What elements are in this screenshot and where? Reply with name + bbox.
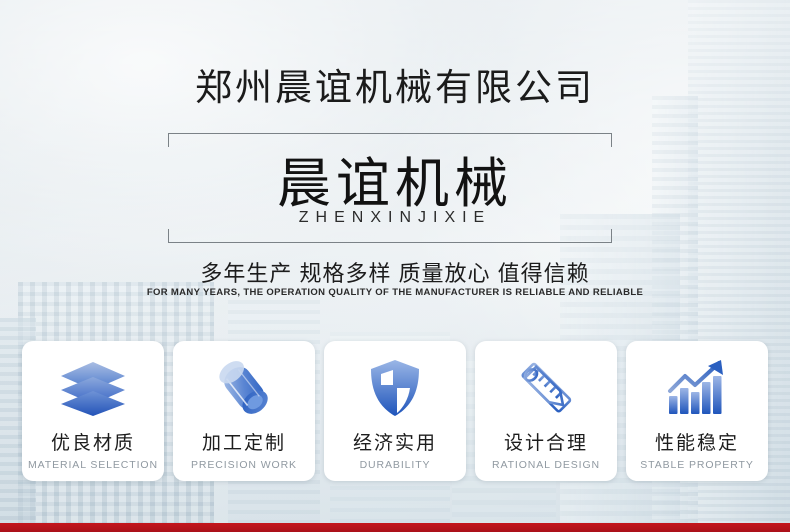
- brand-title: 晨谊机械: [0, 139, 790, 218]
- feature-subtitle: STABLE PROPERTY: [640, 459, 753, 471]
- feature-subtitle: RATIONAL DESIGN: [492, 459, 600, 471]
- feature-subtitle: PRECISION WORK: [191, 459, 297, 471]
- bottom-accent-bar: [0, 523, 790, 532]
- feature-subtitle: DURABILITY: [360, 459, 431, 471]
- promo-banner: 郑州晨谊机械有限公司 晨谊机械 ZHENXINJIXIE 多年生产 规格多样 质…: [0, 0, 790, 532]
- company-name: 郑州晨谊机械有限公司: [0, 57, 790, 111]
- steel-pipe-icon: [207, 355, 281, 421]
- feature-title: 设计合理: [504, 428, 588, 455]
- feature-title: 性能稳定: [655, 428, 739, 455]
- tagline-english: FOR MANY YEARS, THE OPERATION QUALITY OF…: [0, 287, 790, 298]
- feature-title: 优良材质: [51, 428, 135, 455]
- growth-chart-icon: [660, 355, 734, 421]
- frame-corner-bottom-right: [611, 229, 612, 243]
- frame-line-bottom: [168, 242, 612, 243]
- feature-card-precision-work[interactable]: 加工定制 PRECISION WORK: [173, 341, 315, 481]
- shield-icon: [358, 355, 432, 421]
- feature-card-rational-design[interactable]: 设计合理 RATIONAL DESIGN: [475, 341, 617, 481]
- frame-corner-bottom-left: [168, 229, 169, 243]
- feature-card-material-selection[interactable]: 优良材质 MATERIAL SELECTION: [22, 341, 164, 481]
- frame-line-top: [168, 133, 612, 134]
- feature-card-stable-property[interactable]: 性能稳定 STABLE PROPERTY: [626, 341, 768, 481]
- brand-pinyin: ZHENXINJIXIE: [0, 209, 790, 227]
- feature-subtitle: MATERIAL SELECTION: [28, 459, 158, 471]
- tagline-chinese: 多年生产 规格多样 质量放心 值得信赖: [0, 256, 790, 288]
- feature-card-list: 优良材质 MATERIAL SELECTION: [22, 341, 768, 481]
- ruler-pencil-icon: [509, 355, 583, 421]
- stacked-layers-icon: [56, 355, 130, 421]
- feature-title: 经济实用: [353, 428, 437, 455]
- feature-card-durability[interactable]: 经济实用 DURABILITY: [324, 341, 466, 481]
- feature-title: 加工定制: [202, 428, 286, 455]
